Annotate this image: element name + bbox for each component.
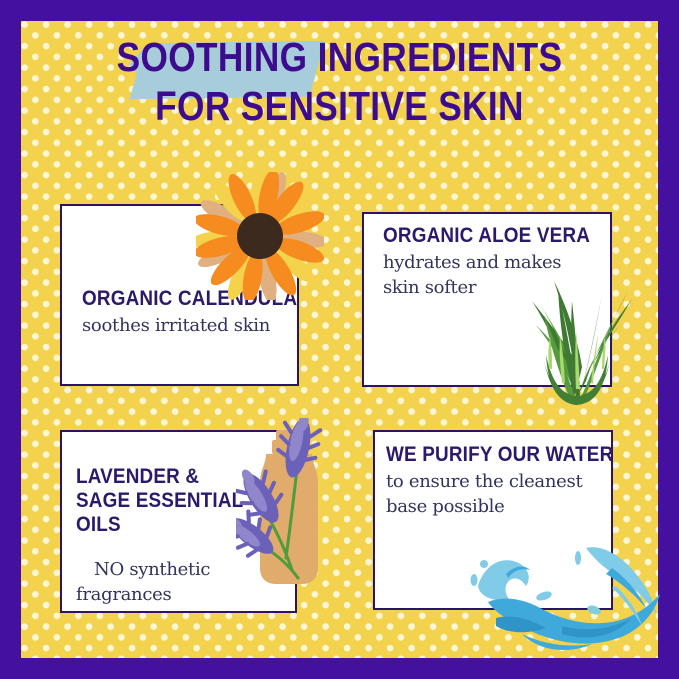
card-text-aloe-vera: ORGANIC ALOE VERA hydrates and makes ski…: [383, 224, 588, 300]
card-heading-water: WE PURIFY OUR WATER: [386, 443, 580, 467]
poster-title: SOOTHING INGREDIENTS FOR SENSITIVE SKIN: [21, 34, 658, 129]
card-body-essential-oils: NO synthetic fragrances: [76, 557, 276, 607]
title-line-1: SOOTHING INGREDIENTS: [66, 34, 614, 80]
card-text-essential-oils: LAVENDER & SAGE ESSENTIAL OILS NO synthe…: [76, 465, 276, 607]
card-body-calendula: soothes irritated skin: [82, 313, 297, 338]
title-line-2: FOR SENSITIVE SKIN: [66, 83, 614, 129]
card-text-water: WE PURIFY OUR WATER to ensure the cleane…: [386, 443, 601, 519]
card-heading-calendula: ORGANIC CALENDULA: [82, 287, 276, 311]
card-text-calendula: ORGANIC CALENDULA soothes irritated skin: [82, 287, 297, 338]
card-body-aloe-vera: hydrates and makes skin softer: [383, 250, 588, 300]
card-heading-essential-oils: LAVENDER & SAGE ESSENTIAL OILS: [76, 465, 256, 537]
card-text-spacer: [76, 537, 276, 555]
infographic-poster: SOOTHING INGREDIENTS FOR SENSITIVE SKIN …: [0, 0, 679, 679]
card-body-water: to ensure the cleanest base possible: [386, 469, 601, 519]
card-heading-aloe-vera: ORGANIC ALOE VERA: [383, 224, 568, 248]
